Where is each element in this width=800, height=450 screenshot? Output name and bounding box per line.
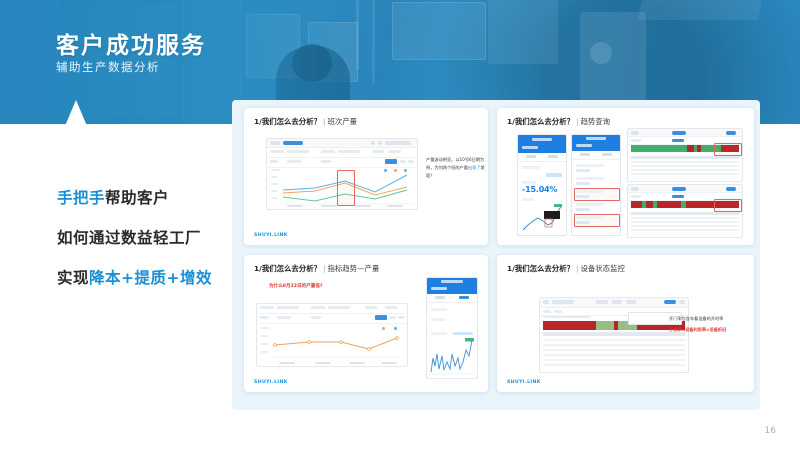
table-toolbar[interactable] — [540, 298, 688, 308]
lead-line-1-rest: 帮助客户 — [105, 189, 169, 207]
card-title: 1/我们怎么去分析？|班次产量 — [254, 116, 357, 127]
page-number: 16 — [765, 426, 776, 436]
mobile-chart — [427, 336, 477, 378]
mobile-header — [518, 135, 566, 153]
lead-line-3-prefix: 实现 — [57, 269, 89, 287]
slide: 客户成功服务 辅助生产数据分析 手把手帮助客户 如何通过数益轻工厂 实现降本+提… — [0, 0, 800, 450]
highlight-box — [337, 170, 355, 206]
card-equipment-status[interactable]: 1/我们怎么去分析？|设备状态监控 — [497, 255, 754, 392]
card-title: 1/我们怎么去分析？|设备状态监控 — [507, 263, 625, 274]
banner-left-block — [0, 0, 60, 124]
banner-pointer-triangle — [65, 100, 87, 126]
line-chart — [257, 324, 407, 366]
dashboard-filter-bar[interactable] — [267, 148, 417, 158]
shift-output-dashboard[interactable] — [266, 138, 418, 210]
card-topic: 趋势查询 — [580, 117, 610, 126]
table-toolbar[interactable] — [628, 129, 742, 137]
mobile-header — [572, 135, 620, 151]
page-title: 客户成功服务 — [56, 26, 206, 60]
mobile-output-panel[interactable] — [426, 277, 478, 379]
card-question: 我们怎么去分析？ — [515, 117, 574, 126]
mobile-chart — [518, 201, 566, 233]
lead-line-1-highlight: 手把手 — [57, 189, 105, 207]
card-topic: 设备状态监控 — [580, 264, 624, 273]
card-annotation-red: 为什么8月22日的产量低? — [269, 283, 323, 289]
mobile-tabs[interactable] — [572, 151, 620, 160]
card-annotation-red: 开机率=设备利用率=设备折旧 — [669, 327, 726, 333]
lead-line-2: 如何通过数益轻工厂 — [57, 226, 237, 248]
card-topic: 班次产量 — [327, 117, 357, 126]
gantt-highlight-box — [714, 143, 742, 156]
lead-line-1: 手把手帮助客户 — [57, 186, 237, 208]
mobile-header — [427, 278, 477, 294]
chart-lines — [257, 326, 407, 362]
line-chart — [267, 166, 417, 209]
lead-line-3: 实现降本+提质+增效 — [57, 266, 237, 288]
card-question: 我们怎么去分析？ — [262, 117, 321, 126]
equipment-status-table[interactable] — [539, 297, 689, 373]
mobile-trend-panel[interactable]: -15.04% SHUYI.LINK — [517, 134, 567, 236]
lead-text-block: 手把手帮助客户 如何通过数益轻工厂 实现降本+提质+增效 — [57, 186, 237, 306]
mobile-tabs[interactable] — [427, 294, 477, 303]
dashboard-toolbar[interactable] — [267, 139, 417, 148]
equipment-table-top[interactable] — [627, 128, 743, 182]
card-question: 我们怎么去分析？ — [262, 264, 321, 273]
card-index: 1/ — [254, 117, 262, 126]
card-annotation: 产量波动明显，以10号6日期为例，为何两个班的产量出现了差距？ — [426, 156, 488, 180]
lead-line-3-highlight: 降本+提质+增效 — [89, 269, 212, 287]
metric-value: -15.04% — [522, 185, 557, 194]
card-index: 1/ — [254, 264, 262, 273]
brand-logo: SHUYI.LINK — [254, 380, 288, 385]
card-index: 1/ — [507, 264, 515, 273]
mobile-list-panel[interactable] — [571, 134, 621, 236]
dashboard-filter-bar-2[interactable] — [257, 314, 407, 324]
card-shift-output[interactable]: 1/我们怎么去分析？|班次产量 — [244, 108, 488, 245]
card-title: 1/我们怎么去分析？|趋势查询 — [507, 116, 610, 127]
card-metric-trend-output[interactable]: 1/我们怎么去分析？|指标趋势—产量 为什么8月22日的产量低? — [244, 255, 488, 392]
gantt-highlight-box — [714, 199, 742, 212]
card-annotation: 开门率包含年看设备的开时率 — [669, 315, 745, 323]
annotation-link[interactable]: 出现了 — [468, 165, 481, 170]
table-toolbar[interactable] — [628, 185, 742, 193]
mobile-tabs[interactable] — [518, 153, 566, 162]
page-subtitle: 辅助生产数据分析 — [56, 59, 160, 75]
card-title: 1/我们怎么去分析？|指标趋势—产量 — [254, 263, 379, 274]
card-index: 1/ — [507, 117, 515, 126]
card-question: 我们怎么去分析？ — [515, 264, 574, 273]
brand-logo: SHUYI.LINK — [507, 380, 541, 385]
card-trend-query[interactable]: 1/我们怎么去分析？|趋势查询 -15.04% SHUYI. — [497, 108, 754, 245]
metric-trend-dashboard[interactable] — [256, 303, 408, 367]
dashboard-filter-bar[interactable] — [257, 304, 407, 314]
equipment-table-bottom[interactable] — [627, 184, 743, 238]
card-topic: 指标趋势—产量 — [327, 264, 379, 273]
brand-logo: SHUYI.LINK — [254, 233, 288, 238]
